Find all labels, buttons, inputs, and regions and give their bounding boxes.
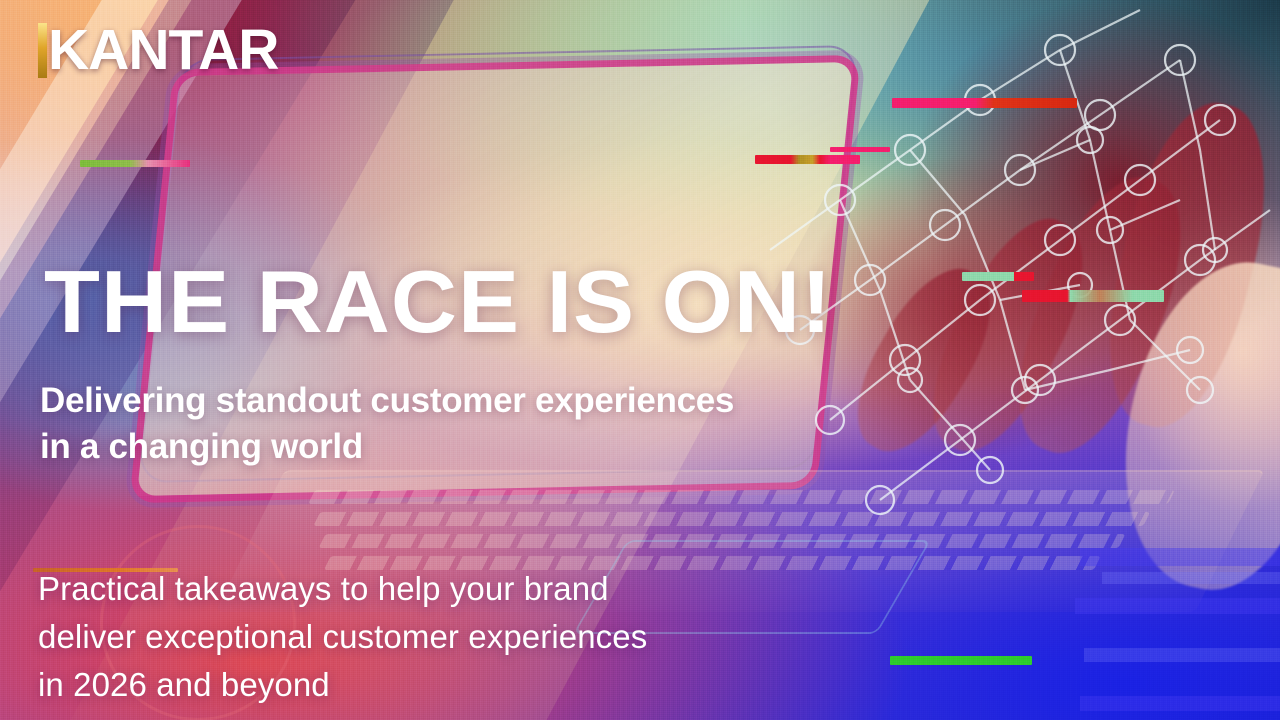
description-line-1: Practical takeaways to help your brand (38, 565, 868, 613)
description-line-3: in 2026 and beyond (38, 661, 868, 709)
subtitle: Delivering standout customer experiences… (40, 378, 940, 469)
subtitle-line-1: Delivering standout customer experiences (40, 378, 940, 424)
description-line-2: deliver exceptional customer experiences (38, 613, 868, 661)
logo-wordmark: KANTAR (48, 22, 278, 79)
kantar-logo[interactable]: KANTAR (38, 22, 278, 79)
description-block: Practical takeaways to help your brand d… (38, 565, 868, 709)
logo-accent-bar (38, 23, 47, 78)
subtitle-line-2: in a changing world (40, 424, 940, 470)
page-title: THE RACE IS ON! (44, 258, 832, 346)
kantar-promo-banner: KANTAR THE RACE IS ON! Delivering stando… (0, 0, 1280, 720)
